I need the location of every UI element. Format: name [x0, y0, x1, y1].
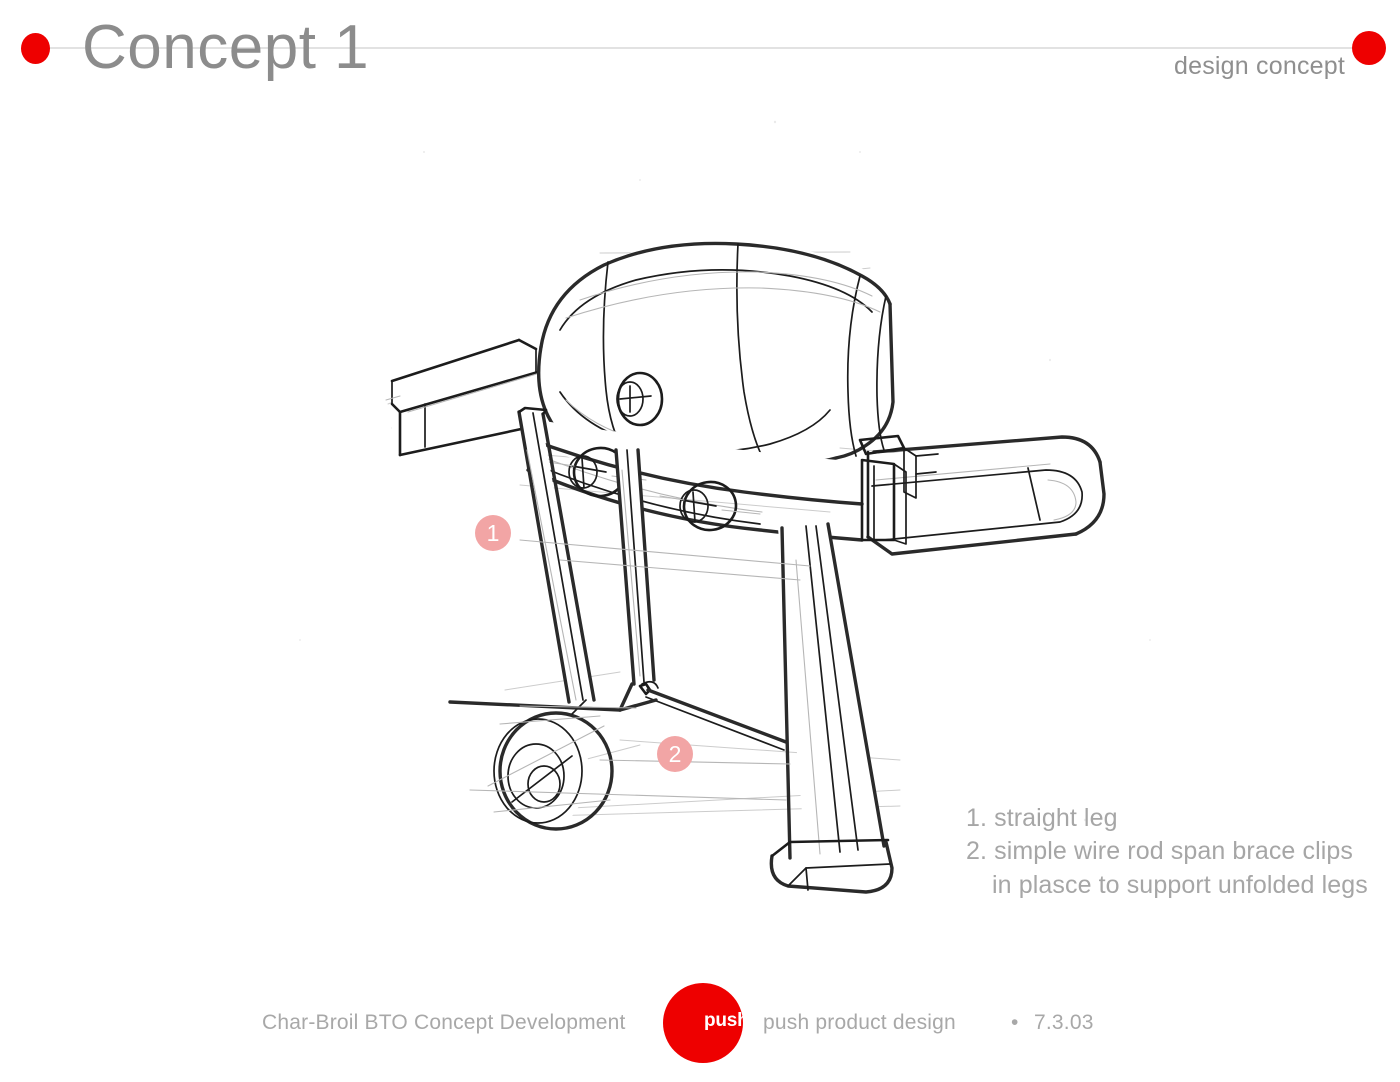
annotation-list: 1. straight leg 2. simple wire rod span …: [966, 802, 1376, 902]
callout-marker-2[interactable]: 2: [657, 736, 693, 772]
annotation-item-2: 2. simple wire rod span brace clips: [966, 835, 1376, 868]
rear-wheel: [406, 700, 612, 838]
bbq-grill-concept-sketch: .ink { fill:none; stroke:#1c1c1c; stroke…: [0, 0, 1400, 1082]
footer-date: 7.3.03: [1034, 1011, 1094, 1035]
callout-marker-2-label: 2: [669, 741, 682, 768]
footer-project-title: Char-Broil BTO Concept Development: [262, 1011, 626, 1035]
callout-marker-1[interactable]: 1: [475, 515, 511, 551]
slide-canvas: Concept 1 design concept .ink { fill:non…: [0, 0, 1400, 1082]
left-side-shelf: [386, 340, 546, 474]
right-side-shelf: [860, 436, 1106, 554]
callout-marker-1-label: 1: [487, 520, 500, 547]
annotation-item-2-continued: in plasce to support unfolded legs: [966, 869, 1376, 902]
footer: Char-Broil BTO Concept Development push …: [0, 1003, 1400, 1053]
push-logo-label: push: [704, 1010, 749, 1032]
push-logo: push: [663, 983, 743, 1063]
annotation-item-1: 1. straight leg: [966, 802, 1376, 835]
footer-company-name: push product design: [763, 1011, 956, 1035]
footer-bullet-separator: •: [1011, 1011, 1018, 1035]
